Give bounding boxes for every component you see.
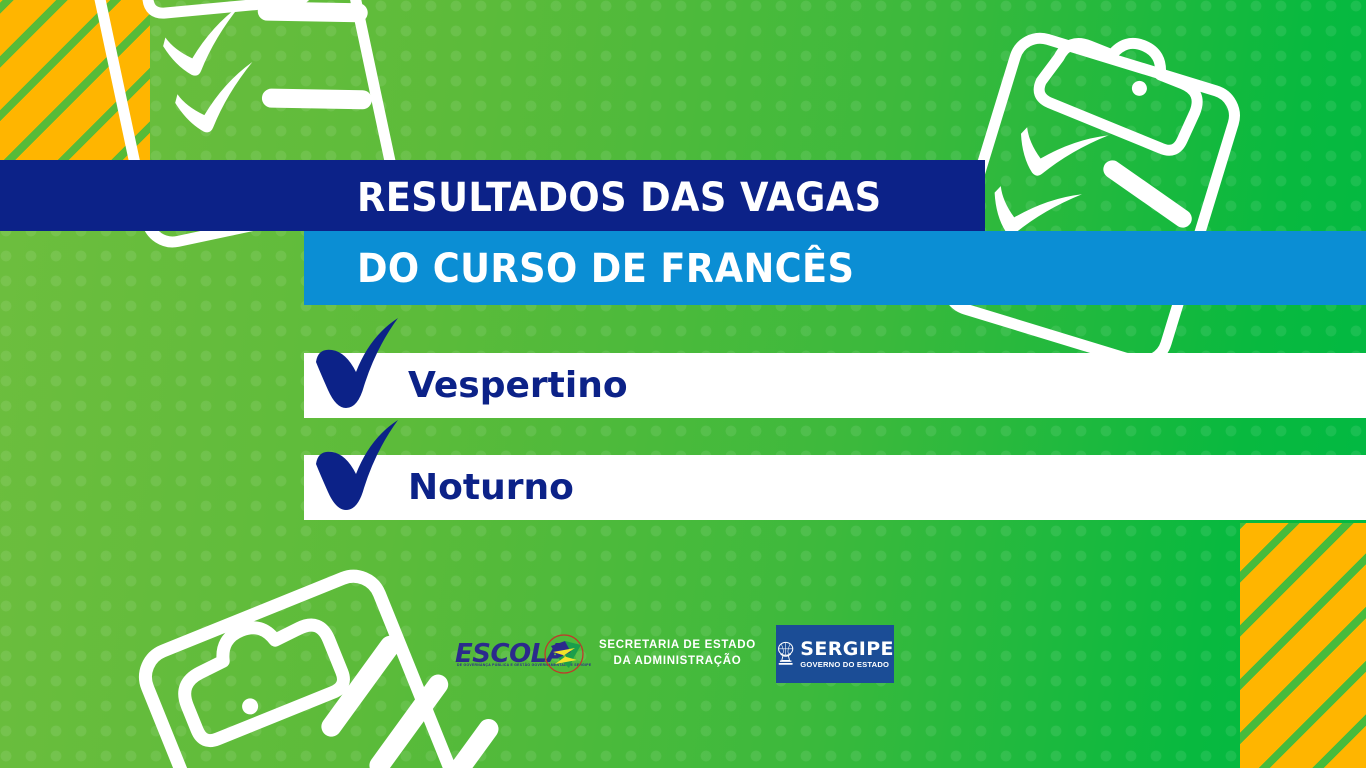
brazil-arrow-mark-icon	[541, 632, 587, 676]
sergipe-name: SERGIPE	[800, 640, 894, 659]
footer-logos: ESCOLA DE GOVERNANÇA PÚBLICA E GESTÃO GO…	[455, 625, 894, 683]
result-label-vespertino: Vespertino	[408, 365, 628, 406]
sergipe-subtitle: GOVERNO DO ESTADO	[800, 661, 894, 669]
sergipe-coat-of-arms-icon	[776, 633, 795, 675]
result-label-noturno: Noturno	[408, 467, 574, 508]
page-title-line2: DO CURSO DE FRANCÊS	[357, 246, 854, 292]
escola-logo: ESCOLA DE GOVERNANÇA PÚBLICA E GESTÃO GO…	[455, 631, 583, 677]
poster-canvas: RESULTADOS DAS VAGAS DO CURSO DE FRANCÊS…	[0, 0, 1366, 768]
sergipe-text-block: SERGIPE GOVERNO DO ESTADO	[800, 640, 894, 669]
check-icon	[312, 420, 402, 525]
sergipe-government-logo: SERGIPE GOVERNO DO ESTADO	[776, 625, 894, 683]
secretaria-line1: SECRETARIA DE ESTADO	[599, 638, 756, 654]
check-icon	[312, 318, 402, 423]
secretaria-label: SECRETARIA DE ESTADO DA ADMINISTRAÇÃO	[599, 638, 756, 669]
secretaria-line2: DA ADMINISTRAÇÃO	[599, 654, 756, 670]
page-title-line1: RESULTADOS DAS VAGAS	[357, 175, 881, 221]
stripes-bottom-right	[1240, 523, 1366, 768]
